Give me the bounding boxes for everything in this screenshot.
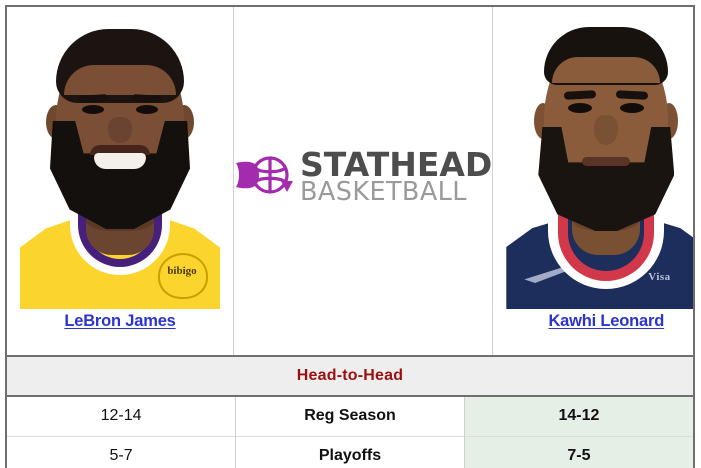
- kawhi-forehead: [552, 57, 660, 83]
- kawhi-eyebrow-left: [564, 90, 596, 100]
- stat-value-right-0: 14-12: [464, 396, 693, 436]
- brand-logo-column: STATHEAD BASKETBALL: [233, 7, 493, 355]
- head-to-head-table: Head-to-Head 12-14 Reg Season 14-12 5-7 …: [7, 355, 693, 468]
- player-comparison-strip: bibigo LeBron Jame: [7, 7, 693, 355]
- stathead-wordmark: STATHEAD BASKETBALL: [300, 150, 492, 205]
- stat-value-left-1: 5-7: [7, 436, 236, 468]
- kawhi-lips: [582, 157, 630, 166]
- stat-value-left-0: 12-14: [7, 396, 236, 436]
- brand-sport: BASKETBALL: [300, 181, 492, 204]
- head-to-head-table-body: Head-to-Head 12-14 Reg Season 14-12 5-7 …: [7, 356, 693, 468]
- stat-value-right-1: 7-5: [464, 436, 693, 468]
- table-row: 5-7 Playoffs 7-5: [7, 436, 693, 468]
- table-row: 12-14 Reg Season 14-12: [7, 396, 693, 436]
- lebron-nose: [108, 117, 132, 143]
- player-column-left: bibigo LeBron Jame: [7, 7, 233, 355]
- section-title: Head-to-Head: [7, 356, 693, 396]
- player-photo-right: Visa: [506, 17, 695, 309]
- basketball-logo-icon: [234, 151, 296, 204]
- player-name-link-left[interactable]: LeBron James: [64, 312, 175, 331]
- brand-name: STATHEAD: [300, 150, 492, 180]
- comparison-widget-frame: bibigo LeBron Jame: [5, 5, 695, 468]
- player-column-right: Visa Ka: [493, 7, 695, 355]
- lebron-smile: [94, 153, 146, 169]
- stat-label-1: Playoffs: [236, 436, 465, 468]
- lebron-sponsor-label: bibigo: [160, 265, 204, 277]
- lebron-forehead: [64, 65, 176, 95]
- section-header-row: Head-to-Head: [7, 356, 693, 396]
- stathead-logo: STATHEAD BASKETBALL: [234, 150, 492, 205]
- stathead-h2h-widget: bibigo LeBron Jame: [0, 0, 701, 468]
- lebron-eye-right: [136, 105, 158, 114]
- kawhi-sponsor-label: Visa: [648, 271, 670, 283]
- lebron-eye-left: [82, 105, 104, 114]
- player-photo-left: bibigo: [20, 17, 220, 309]
- player-name-link-right[interactable]: Kawhi Leonard: [548, 312, 664, 331]
- kawhi-eyebrow-right: [616, 90, 648, 100]
- stat-label-0: Reg Season: [236, 396, 465, 436]
